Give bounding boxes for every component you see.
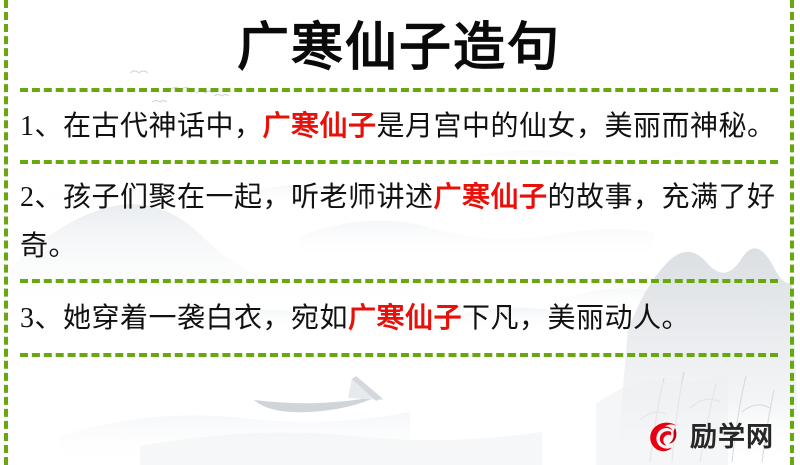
content-area: 广寒仙子造句 1、在古代神话中，广寒仙子是月宫中的仙女，美丽而神秘。 2、孩子们… — [0, 0, 800, 465]
sentence-text-after-1: 是月宫中的仙女，美丽而神秘。 — [377, 111, 776, 142]
red-swirl-logo-icon — [644, 417, 684, 457]
sentence-index-1: 1、 — [20, 111, 63, 142]
sentence-item-3: 3、她穿着一袭白衣，宛如广寒仙子下凡，美丽动人。 — [20, 283, 778, 353]
sentence-text-before-1: 在古代神话中， — [63, 111, 263, 142]
sentence-index-2: 2、 — [20, 182, 63, 213]
sentence-item-1: 1、在古代神话中，广寒仙子是月宫中的仙女，美丽而神秘。 — [20, 92, 778, 160]
keyword-highlight-1: 广寒仙子 — [263, 111, 377, 142]
keyword-highlight-2: 广寒仙子 — [434, 182, 548, 213]
separator-bottom — [20, 353, 778, 357]
sentence-text-before-3: 她穿着一袭白衣，宛如 — [63, 303, 348, 334]
sentence-item-2: 2、孩子们聚在一起，听老师讲述广寒仙子的故事，充满了好奇。 — [20, 164, 778, 279]
frame-border-left — [4, 0, 8, 465]
page-title: 广寒仙子造句 — [20, 0, 778, 88]
sentence-text-after-3: 下凡，美丽动人。 — [462, 303, 690, 334]
site-logo[interactable]: 励学网 — [644, 417, 774, 457]
worksheet-page: 广寒仙子造句 1、在古代神话中，广寒仙子是月宫中的仙女，美丽而神秘。 2、孩子们… — [0, 0, 800, 465]
site-logo-text: 励学网 — [690, 424, 774, 451]
sentence-text-before-2: 孩子们聚在一起，听老师讲述 — [63, 182, 434, 213]
keyword-highlight-3: 广寒仙子 — [348, 303, 462, 334]
sentence-index-3: 3、 — [20, 303, 63, 334]
frame-border-right — [790, 0, 794, 465]
